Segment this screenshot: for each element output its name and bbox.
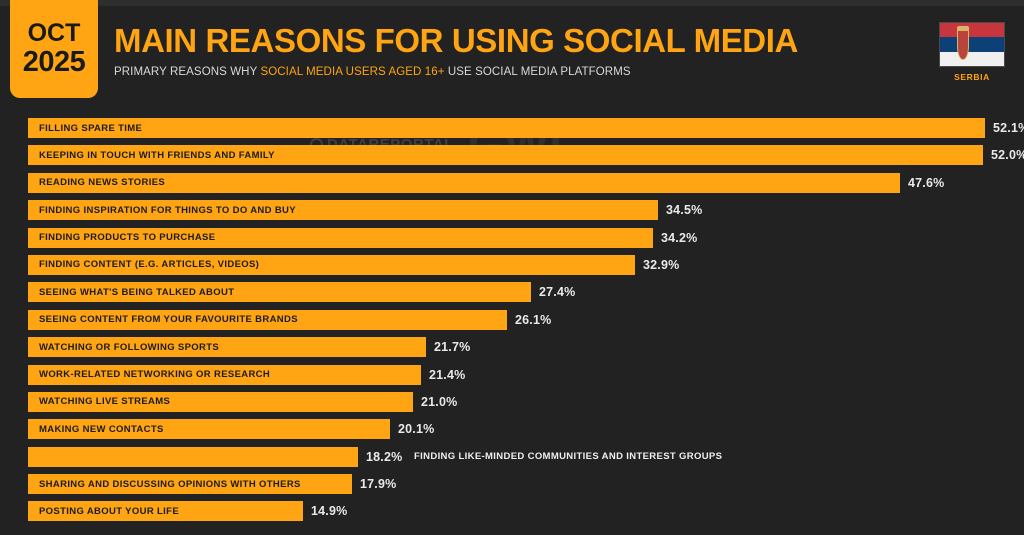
date-badge: OCT 2025 — [10, 0, 98, 98]
bar-value: 26.1% — [515, 310, 551, 330]
flag-band-red — [940, 23, 1004, 37]
chart-row: SEEING WHAT'S BEING TALKED ABOUT27.4% — [0, 282, 1024, 302]
bar-label: FINDING CONTENT (E.G. ARTICLES, VIDEOS) — [28, 259, 259, 270]
chart-row: FINDING CONTENT (E.G. ARTICLES, VIDEOS)3… — [0, 255, 1024, 275]
chart-bar: WORK-RELATED NETWORKING OR RESEARCH — [28, 365, 421, 385]
chart-bar: KEEPING IN TOUCH WITH FRIENDS AND FAMILY — [28, 145, 983, 165]
flag-band-white — [940, 52, 1004, 66]
bar-value: 47.6% — [908, 173, 944, 193]
title-block: MAIN REASONS FOR USING SOCIAL MEDIA PRIM… — [114, 24, 798, 78]
bar-label: FINDING PRODUCTS TO PURCHASE — [28, 232, 215, 243]
chart-bar: FINDING PRODUCTS TO PURCHASE — [28, 228, 653, 248]
chart-bar: SEEING CONTENT FROM YOUR FAVOURITE BRAND… — [28, 310, 507, 330]
bar-label: SEEING WHAT'S BEING TALKED ABOUT — [28, 287, 234, 298]
header: OCT 2025 MAIN REASONS FOR USING SOCIAL M… — [0, 0, 1024, 108]
bar-label: WATCHING LIVE STREAMS — [28, 396, 170, 407]
bar-label: KEEPING IN TOUCH WITH FRIENDS AND FAMILY — [28, 150, 275, 161]
country-block: SERBIA — [935, 22, 1009, 82]
bar-value: 27.4% — [539, 282, 575, 302]
chart-row: KEEPING IN TOUCH WITH FRIENDS AND FAMILY… — [0, 145, 1024, 165]
chart-bar: POSTING ABOUT YOUR LIFE — [28, 501, 303, 521]
chart-row: FILLING SPARE TIME52.1% — [0, 118, 1024, 138]
page-title: MAIN REASONS FOR USING SOCIAL MEDIA — [114, 24, 798, 59]
chart-row: WATCHING OR FOLLOWING SPORTS21.7% — [0, 337, 1024, 357]
chart-row: READING NEWS STORIES47.6% — [0, 173, 1024, 193]
bar-label: SEEING CONTENT FROM YOUR FAVOURITE BRAND… — [28, 314, 298, 325]
chart-row: 18.2%FINDING LIKE-MINDED COMMUNITIES AND… — [0, 447, 1024, 467]
bar-value: 32.9% — [643, 255, 679, 275]
chart-row: POSTING ABOUT YOUR LIFE14.9% — [0, 501, 1024, 521]
chart-bar: FILLING SPARE TIME — [28, 118, 985, 138]
date-badge-month: OCT — [28, 21, 81, 46]
flag-band-blue — [940, 37, 1004, 51]
bar-label: SHARING AND DISCUSSING OPINIONS WITH OTH… — [28, 479, 301, 490]
bar-value: 20.1% — [398, 419, 434, 439]
serbia-flag-icon — [939, 22, 1005, 67]
chart-bar: WATCHING OR FOLLOWING SPORTS — [28, 337, 426, 357]
chart-bar: FINDING CONTENT (E.G. ARTICLES, VIDEOS) — [28, 255, 635, 275]
chart-bar — [28, 447, 358, 467]
chart-row: WORK-RELATED NETWORKING OR RESEARCH21.4% — [0, 365, 1024, 385]
chart-bar: MAKING NEW CONTACTS — [28, 419, 390, 439]
flag-coat-of-arms — [957, 29, 970, 60]
bar-value: 52.0% — [991, 145, 1024, 165]
bar-label: READING NEWS STORIES — [28, 177, 165, 188]
bar-label: POSTING ABOUT YOUR LIFE — [28, 506, 179, 517]
chart-bar: SEEING WHAT'S BEING TALKED ABOUT — [28, 282, 531, 302]
chart-row: FINDING PRODUCTS TO PURCHASE34.2% — [0, 228, 1024, 248]
chart-bar: SHARING AND DISCUSSING OPINIONS WITH OTH… — [28, 474, 352, 494]
bar-label: WATCHING OR FOLLOWING SPORTS — [28, 342, 219, 353]
bar-value: 34.2% — [661, 228, 697, 248]
subtitle-suffix: USE SOCIAL MEDIA PLATFORMS — [445, 66, 631, 78]
bar-value: 21.7% — [434, 337, 470, 357]
chart-row: MAKING NEW CONTACTS20.1% — [0, 419, 1024, 439]
bar-value: 17.9% — [360, 474, 396, 494]
bar-value: 34.5% — [666, 200, 702, 220]
infographic-page: OCT 2025 MAIN REASONS FOR USING SOCIAL M… — [0, 0, 1024, 535]
subtitle-highlight: SOCIAL MEDIA USERS AGED 16+ — [260, 66, 444, 78]
bar-value: 52.1% — [993, 118, 1024, 138]
bar-label: WORK-RELATED NETWORKING OR RESEARCH — [28, 369, 270, 380]
flag-crown — [957, 26, 969, 30]
chart-bar: WATCHING LIVE STREAMS — [28, 392, 413, 412]
chart-row: FINDING INSPIRATION FOR THINGS TO DO AND… — [0, 200, 1024, 220]
bar-label: FILLING SPARE TIME — [28, 123, 142, 134]
bar-label: FINDING INSPIRATION FOR THINGS TO DO AND… — [28, 205, 296, 216]
subtitle-prefix: PRIMARY REASONS WHY — [114, 66, 260, 78]
bar-value: 21.0% — [421, 392, 457, 412]
chart-row: SEEING CONTENT FROM YOUR FAVOURITE BRAND… — [0, 310, 1024, 330]
date-badge-year: 2025 — [23, 48, 86, 77]
bar-value: 18.2% — [366, 447, 402, 467]
bar-value: 21.4% — [429, 365, 465, 385]
country-label: SERBIA — [935, 72, 1009, 82]
bar-value: 14.9% — [311, 501, 347, 521]
chart-bar: READING NEWS STORIES — [28, 173, 900, 193]
chart-bar: FINDING INSPIRATION FOR THINGS TO DO AND… — [28, 200, 658, 220]
chart-row: WATCHING LIVE STREAMS21.0% — [0, 392, 1024, 412]
bar-label-outside: FINDING LIKE-MINDED COMMUNITIES AND INTE… — [414, 447, 722, 467]
bar-chart: FILLING SPARE TIME52.1%KEEPING IN TOUCH … — [0, 118, 1024, 529]
bar-label: MAKING NEW CONTACTS — [28, 424, 164, 435]
page-subtitle: PRIMARY REASONS WHY SOCIAL MEDIA USERS A… — [114, 66, 798, 78]
chart-row: SHARING AND DISCUSSING OPINIONS WITH OTH… — [0, 474, 1024, 494]
